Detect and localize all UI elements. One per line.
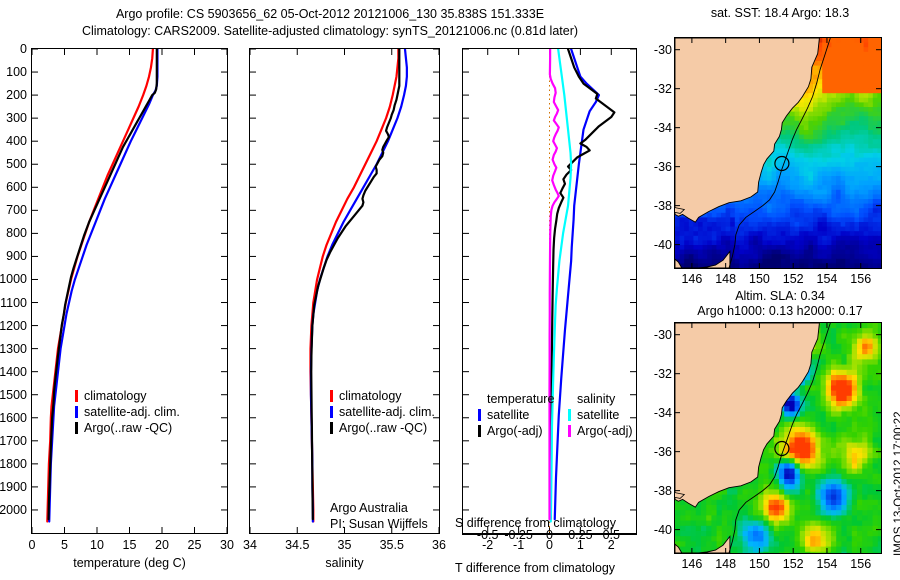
temperature-plot-area (32, 49, 227, 533)
y-tick-label: 1900 (0, 480, 27, 494)
legend-label: Argo(-adj) (577, 423, 633, 439)
legend-item: Argo(..raw -QC) (75, 420, 180, 436)
x-tick-label: 34 (243, 538, 257, 552)
legend-label: satellite (487, 407, 529, 423)
y-tick-label: 1800 (0, 457, 27, 471)
page-title: Argo profile: CS 5903656_62 05-Oct-2012 … (0, 6, 660, 40)
lon-tick-label: 154 (817, 557, 838, 571)
lon-tick-label: 156 (850, 557, 871, 571)
lat-tick-label: -38 (628, 484, 672, 498)
y-tick-label: 300 (0, 111, 27, 125)
difference-secondary-axis-line (462, 534, 637, 535)
sla-map-panel (674, 322, 882, 554)
lat-tick-label: -38 (628, 199, 672, 213)
credit-line-1: Argo Australia (330, 500, 428, 516)
y-tick-label: 1500 (0, 388, 27, 402)
lon-tick-label: 152 (783, 557, 804, 571)
sla-map-title-line-2: Argo h1000: 0.13 h2000: 0.17 (660, 304, 900, 319)
y-tick-label: 1700 (0, 434, 27, 448)
legend-label: satellite-adj. clim. (84, 404, 180, 420)
legend-label: Argo(-adj) (487, 423, 543, 439)
x-tick-label: 2 (608, 538, 615, 552)
legend-label: Argo(..raw -QC) (84, 420, 172, 436)
difference-panel (462, 48, 637, 534)
lon-tick-label: 148 (715, 557, 736, 571)
difference-legend-temperature: temperaturesatelliteArgo(-adj) (478, 391, 554, 439)
legend-swatch (330, 390, 333, 402)
x-tick-label: 36 (432, 538, 446, 552)
lat-tick-label: -40 (628, 238, 672, 252)
legend-item: Argo(..raw -QC) (330, 420, 435, 436)
salinity-panel (249, 48, 440, 534)
y-tick-label: 1300 (0, 342, 27, 356)
x-tick-label: 34.5 (285, 538, 309, 552)
temperature-legend: climatologysatellite-adj. clim.Argo(..ra… (75, 388, 180, 436)
sla-map-title-line-1: Altim. SLA: 0.34 (660, 289, 900, 304)
lon-tick-label: 148 (715, 272, 736, 286)
x-tick-label: 0 (546, 538, 553, 552)
lat-tick-label: -40 (628, 523, 672, 537)
y-tick-label: 400 (0, 134, 27, 148)
lon-tick-label: 146 (681, 272, 702, 286)
sst-map-image (675, 38, 881, 268)
salinity-plot-area (250, 49, 439, 533)
y-tick-label: 0 (0, 42, 27, 56)
legend-item: satellite-adj. clim. (330, 404, 435, 420)
sla-map-image (675, 323, 881, 553)
legend-swatch (75, 422, 78, 434)
y-tick-label: 700 (0, 203, 27, 217)
x-tick-label: 30 (220, 538, 234, 552)
lon-tick-label: 146 (681, 557, 702, 571)
salinity-legend: climatologysatellite-adj. clim.Argo(..ra… (330, 388, 435, 436)
legend-swatch (75, 406, 78, 418)
legend-item: satellite-adj. clim. (75, 404, 180, 420)
salinity-axis-label: salinity (249, 556, 440, 570)
x-tick-label: 20 (155, 538, 169, 552)
legend-swatch (330, 422, 333, 434)
lat-tick-label: -36 (628, 160, 672, 174)
temperature-panel (31, 48, 228, 534)
legend-swatch (568, 409, 571, 421)
legend-label: Argo(..raw -QC) (339, 420, 427, 436)
x-tick-label: 35.5 (380, 538, 404, 552)
y-tick-label: 200 (0, 88, 27, 102)
legend-item: Argo(-adj) (478, 423, 554, 439)
legend-swatch (330, 406, 333, 418)
legend-item: Argo(-adj) (568, 423, 633, 439)
legend-swatch (478, 409, 481, 421)
sla-map-title: Altim. SLA: 0.34 Argo h1000: 0.13 h2000:… (660, 289, 900, 319)
x-tick-label: 10 (90, 538, 104, 552)
legend-label: climatology (339, 388, 402, 404)
legend-swatch (75, 390, 78, 402)
x-tick-label: -1 (513, 538, 524, 552)
temperature-axis-label: temperature (deg C) (31, 556, 228, 570)
credit-block: Argo Australia PI: Susan Wijffels (330, 500, 428, 532)
difference-legend-salinity: salinitysatelliteArgo(-adj) (568, 391, 633, 439)
y-tick-label: 500 (0, 157, 27, 171)
title-line-1: Argo profile: CS 5903656_62 05-Oct-2012 … (0, 6, 660, 23)
difference-t-axis-label: T difference from climatology (455, 561, 650, 575)
lon-tick-label: 150 (749, 272, 770, 286)
lat-tick-label: -36 (628, 445, 672, 459)
legend-label: satellite (577, 407, 619, 423)
x-tick-label: 1 (577, 538, 584, 552)
lat-tick-label: -30 (628, 43, 672, 57)
lat-tick-label: -34 (628, 121, 672, 135)
y-tick-label: 1600 (0, 411, 27, 425)
legend-group-title: salinity (568, 391, 633, 407)
lat-tick-label: -30 (628, 328, 672, 342)
imos-timestamp: IMOS 13-Oct-2012 17:00:22 (893, 412, 900, 556)
legend-item: climatology (75, 388, 180, 404)
sst-map-title: sat. SST: 18.4 Argo: 18.3 (660, 6, 900, 21)
lat-tick-label: -34 (628, 406, 672, 420)
x-tick-label: -2 (482, 538, 493, 552)
legend-item: climatology (330, 388, 435, 404)
y-tick-label: 600 (0, 180, 27, 194)
legend-label: satellite-adj. clim. (339, 404, 435, 420)
legend-swatch (478, 425, 481, 437)
x-tick-label: 5 (61, 538, 68, 552)
legend-label: climatology (84, 388, 147, 404)
x-tick-label: 15 (123, 538, 137, 552)
legend-item: satellite (478, 407, 554, 423)
lon-tick-label: 156 (850, 272, 871, 286)
y-tick-label: 800 (0, 226, 27, 240)
legend-swatch (568, 425, 571, 437)
credit-line-2: PI: Susan Wijffels (330, 516, 428, 532)
x-tick-label: 35 (338, 538, 352, 552)
y-tick-label: 900 (0, 249, 27, 263)
legend-item: satellite (568, 407, 633, 423)
difference-plot-area (463, 49, 636, 533)
legend-group-title: temperature (478, 391, 554, 407)
lat-tick-label: -32 (628, 367, 672, 381)
y-tick-label: 1200 (0, 319, 27, 333)
difference-s-axis-label: S difference from climatology (455, 516, 645, 530)
lon-tick-label: 150 (749, 557, 770, 571)
lon-tick-label: 152 (783, 272, 804, 286)
y-tick-label: 1000 (0, 272, 27, 286)
y-tick-label: 100 (0, 65, 27, 79)
sst-map-panel (674, 37, 882, 269)
x-tick-label: 0 (29, 538, 36, 552)
lat-tick-label: -32 (628, 82, 672, 96)
y-tick-label: 1100 (0, 296, 27, 310)
lon-tick-label: 154 (817, 272, 838, 286)
title-line-2: Climatology: CARS2009. Satellite-adjuste… (0, 23, 660, 40)
y-tick-label: 1400 (0, 365, 27, 379)
x-tick-label: 25 (188, 538, 202, 552)
y-tick-label: 2000 (0, 503, 27, 517)
